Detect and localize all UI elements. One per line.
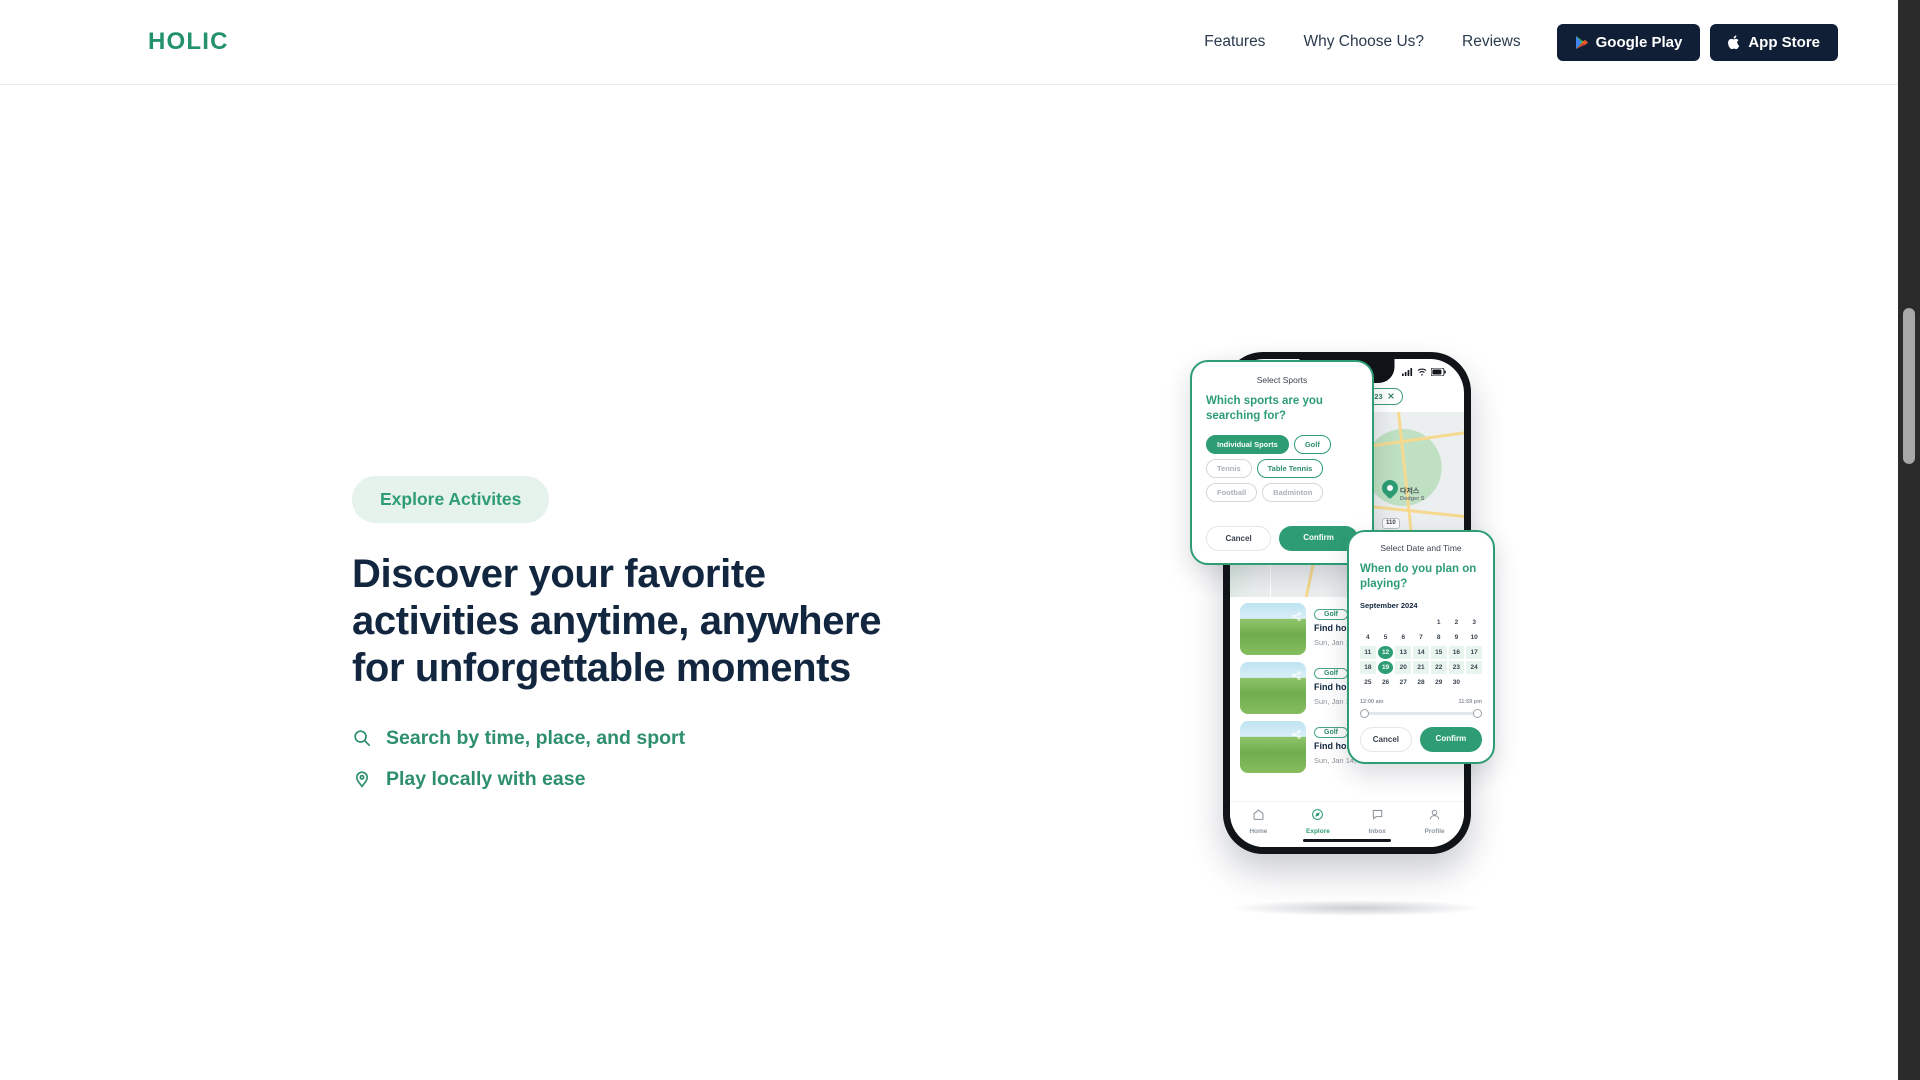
nav-link-why-choose-us[interactable]: Why Choose Us? — [1303, 33, 1424, 51]
slider-knob-start[interactable] — [1360, 709, 1369, 718]
calendar-day-24[interactable]: 24 — [1466, 661, 1482, 674]
app-store-label: App Store — [1748, 34, 1820, 51]
calendar-day-7[interactable]: 7 — [1413, 631, 1429, 644]
select-sports-actions: Cancel Confirm — [1206, 526, 1358, 551]
listing-thumbnail — [1240, 603, 1306, 655]
calendar-day-4[interactable]: 4 — [1360, 631, 1376, 644]
sport-chip-tennis[interactable]: Tennis — [1206, 459, 1252, 478]
calendar-day-19[interactable]: 19 — [1378, 661, 1394, 674]
signal-icon — [1402, 368, 1413, 379]
share-icon[interactable] — [1292, 726, 1301, 744]
tab-inbox[interactable]: Inbox — [1368, 808, 1385, 835]
sports-cancel-button[interactable]: Cancel — [1206, 526, 1271, 551]
calendar-day-28[interactable]: 28 — [1413, 676, 1429, 689]
calendar-day-empty — [1413, 616, 1429, 629]
calendar-day-26[interactable]: 26 — [1378, 676, 1394, 689]
calendar-day-8[interactable]: 8 — [1431, 631, 1447, 644]
tab-profile[interactable]: Profile — [1424, 808, 1444, 835]
calendar-day-27[interactable]: 27 — [1395, 676, 1411, 689]
home-indicator — [1303, 839, 1391, 842]
headline-line-3: for unforgettable moments — [352, 645, 992, 692]
slider-knob-end[interactable] — [1473, 709, 1482, 718]
feature-item-search: Search by time, place, and sport — [352, 727, 992, 750]
listing-thumbnail — [1240, 662, 1306, 714]
calendar-day-2[interactable]: 2 — [1449, 616, 1465, 629]
calendar-day-empty — [1395, 616, 1411, 629]
compass-icon — [1311, 808, 1324, 826]
select-sports-card: Select Sports Which sports are you searc… — [1190, 360, 1374, 565]
feature-item-local: Play locally with ease — [352, 768, 992, 791]
brand-logo[interactable]: HOLIC — [148, 28, 229, 56]
app-store-button[interactable]: App Store — [1710, 24, 1838, 61]
close-icon[interactable] — [1388, 392, 1394, 401]
store-buttons: Google Play App Store — [1557, 24, 1838, 61]
headline-line-2: activities anytime, anywhere — [352, 598, 992, 645]
calendar-day-empty — [1360, 616, 1376, 629]
date-cancel-button[interactable]: Cancel — [1360, 727, 1412, 752]
status-icons — [1402, 368, 1446, 379]
nav-link-features[interactable]: Features — [1204, 33, 1265, 51]
google-play-label: Google Play — [1596, 34, 1683, 51]
calendar-day-29[interactable]: 29 — [1431, 676, 1447, 689]
home-icon — [1252, 808, 1265, 826]
chat-icon — [1371, 808, 1384, 826]
slider-track — [1364, 712, 1478, 715]
calendar-day-1[interactable]: 1 — [1431, 616, 1447, 629]
sport-chip-individual-sports[interactable]: Individual Sports — [1206, 435, 1289, 454]
tab-explore-label: Explore — [1306, 828, 1330, 835]
calendar-day-22[interactable]: 22 — [1431, 661, 1447, 674]
select-date-eyebrow: Select Date and Time — [1360, 543, 1482, 553]
landing-page: HOLIC Features Why Choose Us? Reviews — [0, 0, 1920, 1080]
google-play-button[interactable]: Google Play — [1557, 24, 1701, 61]
time-range-slider[interactable] — [1360, 708, 1482, 718]
feature-label-search: Search by time, place, and sport — [386, 727, 685, 750]
highway-shield: 110 — [1382, 518, 1400, 529]
calendar-day-10[interactable]: 10 — [1466, 631, 1482, 644]
explore-activities-badge[interactable]: Explore Activites — [352, 476, 549, 523]
tab-home[interactable]: Home — [1249, 808, 1267, 835]
calendar-day-20[interactable]: 20 — [1395, 661, 1411, 674]
phone-drop-shadow — [1232, 900, 1482, 916]
feature-list: Search by time, place, and sport Play lo… — [352, 727, 992, 791]
feature-label-local: Play locally with ease — [386, 768, 585, 791]
calendar-day-15[interactable]: 15 — [1431, 646, 1447, 659]
sport-chip-golf[interactable]: Golf — [1294, 435, 1331, 454]
calendar-day-13[interactable]: 13 — [1395, 646, 1411, 659]
select-date-card: Select Date and Time When do you plan on… — [1347, 530, 1495, 764]
calendar-month-label: September 2024 — [1360, 601, 1482, 610]
tab-home-label: Home — [1249, 828, 1267, 835]
time-start-label: 12:00 am — [1360, 699, 1384, 705]
calendar-day-empty — [1466, 676, 1482, 689]
time-end-label: 11:59 pm — [1458, 699, 1482, 705]
sport-chip-badminton[interactable]: Badminton — [1262, 483, 1323, 502]
calendar-day-6[interactable]: 6 — [1395, 631, 1411, 644]
location-pin-icon — [352, 769, 372, 789]
map-label: 다저스 — [1400, 486, 1419, 496]
header-right: Features Why Choose Us? Reviews Google P… — [1204, 24, 1838, 61]
tab-inbox-label: Inbox — [1368, 828, 1385, 835]
page-title: Discover your favorite activities anytim… — [352, 551, 992, 693]
time-range-labels: 12:00 am 11:59 pm — [1360, 699, 1482, 705]
apple-icon — [1728, 35, 1741, 50]
listing-tag: Golf — [1314, 609, 1348, 620]
wifi-icon — [1417, 368, 1427, 379]
sport-chip-group: Individual Sports Golf Tennis Table Tenn… — [1206, 435, 1358, 502]
calendar-day-30[interactable]: 30 — [1449, 676, 1465, 689]
sport-chip-football[interactable]: Football — [1206, 483, 1257, 502]
app-mockup: 9:41 — [1190, 340, 1520, 900]
calendar-day-23[interactable]: 23 — [1449, 661, 1465, 674]
scrollbar-thumb[interactable] — [1903, 308, 1915, 464]
calendar-day-5[interactable]: 5 — [1378, 631, 1394, 644]
nav-link-reviews[interactable]: Reviews — [1462, 33, 1521, 51]
map-pin-icon[interactable] — [1379, 477, 1402, 500]
hero-content: Explore Activites Discover your favorite… — [352, 476, 992, 791]
site-header: HOLIC Features Why Choose Us? Reviews — [0, 0, 1898, 85]
select-sports-eyebrow: Select Sports — [1206, 375, 1358, 385]
calendar-day-17[interactable]: 17 — [1466, 646, 1482, 659]
share-icon[interactable] — [1292, 608, 1301, 626]
page-scrollbar[interactable] — [1898, 0, 1920, 1080]
calendar-day-12[interactable]: 12 — [1378, 646, 1394, 659]
google-play-icon — [1575, 35, 1589, 50]
listing-tag: Golf — [1314, 727, 1348, 738]
calendar-day-11[interactable]: 11 — [1360, 646, 1376, 659]
calendar-day-9[interactable]: 9 — [1449, 631, 1465, 644]
search-icon — [352, 728, 372, 748]
date-confirm-button[interactable]: Confirm — [1420, 727, 1482, 752]
battery-icon — [1431, 368, 1446, 379]
person-icon — [1428, 808, 1441, 826]
listing-tag: Golf — [1314, 668, 1348, 679]
tab-explore[interactable]: Explore — [1306, 808, 1330, 835]
calendar-day-empty — [1378, 616, 1394, 629]
share-icon[interactable] — [1292, 667, 1301, 685]
main-nav: Features Why Choose Us? Reviews — [1204, 33, 1520, 51]
tab-profile-label: Profile — [1424, 828, 1444, 835]
select-sports-question: Which sports are you searching for? — [1206, 394, 1358, 424]
calendar-day-16[interactable]: 16 — [1449, 646, 1465, 659]
calendar-grid[interactable]: 1234567891011121314151617181920212223242… — [1360, 616, 1482, 689]
calendar-day-3[interactable]: 3 — [1466, 616, 1482, 629]
select-date-actions: Cancel Confirm — [1360, 727, 1482, 752]
calendar-day-25[interactable]: 25 — [1360, 676, 1376, 689]
headline-line-1: Discover your favorite — [352, 551, 992, 598]
calendar-day-14[interactable]: 14 — [1413, 646, 1429, 659]
sport-chip-table-tennis[interactable]: Table Tennis — [1257, 459, 1324, 478]
select-date-question: When do you plan on playing? — [1360, 562, 1482, 592]
calendar-day-18[interactable]: 18 — [1360, 661, 1376, 674]
map-label: Dodger S — [1400, 496, 1424, 502]
calendar-day-21[interactable]: 21 — [1413, 661, 1429, 674]
listing-thumbnail — [1240, 721, 1306, 773]
